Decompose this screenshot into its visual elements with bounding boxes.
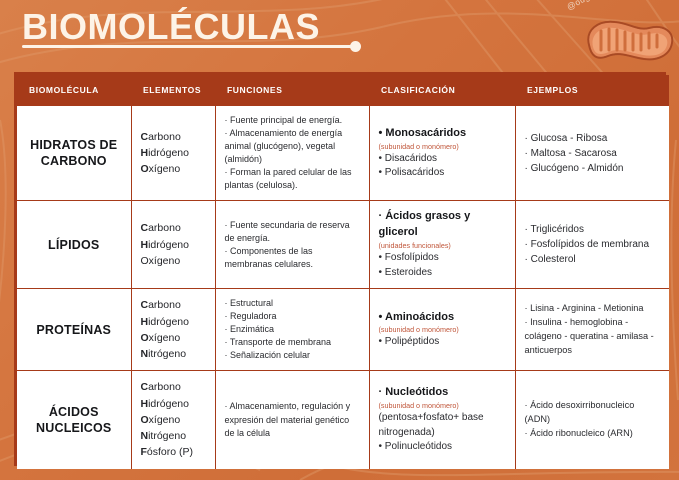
- function-item: · Almacenamiento, regulación y expresión…: [225, 400, 360, 439]
- column-header-clasificacion: CLASIFICACIÓN: [369, 75, 515, 106]
- classification-list: · Nucleótidos (subunidad o monómero) (pe…: [379, 385, 506, 454]
- biomolecule-name: HIDRATOS DE CARBONO: [26, 137, 122, 170]
- functions-list: · Estructural · Reguladora · Enzimática …: [225, 297, 360, 362]
- element-item: Oxígeno: [141, 161, 206, 177]
- classification-item: • Polipéptidos: [379, 335, 506, 350]
- function-item: · Transporte de membrana: [225, 336, 360, 349]
- elements-list: Carbono Hidrógeno Oxígeno: [141, 129, 206, 178]
- examples-list: · Glucosa - Ribosa · Maltosa - Sacarosa …: [525, 131, 661, 176]
- biomolecules-table-container: BIOMOLÉCULA ELEMENTOS FUNCIONES CLASIFIC…: [14, 72, 666, 466]
- function-item: · Componentes de las membranas celulares…: [225, 245, 360, 271]
- element-item: Hidrógeno: [141, 396, 206, 412]
- classification-main: · Nucleótidos: [379, 385, 506, 401]
- cell-elementos: Carbono Hidrógeno Oxígeno: [131, 201, 215, 289]
- example-item: · Glucosa - Ribosa: [525, 131, 661, 146]
- classification-item: • Esteroides: [379, 266, 506, 281]
- element-item: Hidrógeno: [141, 145, 206, 161]
- example-item: · Ácido ribonucleico (ARN): [525, 427, 661, 441]
- element-item: Hidrógeno: [141, 314, 206, 330]
- example-item: · Lisina - Arginina - Metionina: [525, 302, 661, 316]
- table-header: BIOMOLÉCULA ELEMENTOS FUNCIONES CLASIFIC…: [17, 75, 669, 106]
- cell-elementos: Carbono Hidrógeno Oxígeno: [131, 106, 215, 201]
- function-item: · Enzimática: [225, 323, 360, 336]
- example-item: · Maltosa - Sacarosa: [525, 146, 661, 161]
- element-item: Carbono: [141, 220, 206, 236]
- example-item: · Insulina - hemoglobina - colágeno - qu…: [525, 316, 661, 357]
- column-header-elementos: ELEMENTOS: [131, 75, 215, 106]
- biomolecule-name: ÁCIDOS NUCLEICOS: [26, 404, 122, 437]
- element-item: Oxígeno: [141, 330, 206, 346]
- function-item: · Fuente principal de energía.: [225, 114, 360, 127]
- cell-clasificacion: · Nucleótidos (subunidad o monómero) (pe…: [369, 371, 515, 469]
- classification-main: • Aminoácidos: [379, 310, 506, 326]
- cell-ejemplos: · Ácido desoxirribonucleico (ADN) · Ácid…: [515, 371, 669, 469]
- classification-detail: (pentosa+fosfato+ base nitrogenada): [379, 411, 506, 440]
- cell-biomolecula: LÍPIDOS: [17, 201, 131, 289]
- title-block: BIOMOLÉCULAS: [22, 8, 442, 46]
- biomolecules-table: BIOMOLÉCULA ELEMENTOS FUNCIONES CLASIFIC…: [17, 75, 669, 469]
- cell-funciones: · Fuente principal de energía. · Almacen…: [215, 106, 369, 201]
- elements-list: Carbono Hidrógeno Oxígeno: [141, 220, 206, 269]
- elements-list: Carbono Hidrógeno Oxígeno Nitrógeno Fósf…: [141, 379, 206, 460]
- function-item: · Fuente secundaria de reserva de energí…: [225, 219, 360, 245]
- function-item: · Estructural: [225, 297, 360, 310]
- element-item: Nitrógeno: [141, 428, 206, 444]
- classification-item: • Polinucleótidos: [379, 440, 506, 455]
- cell-ejemplos: · Glucosa - Ribosa · Maltosa - Sacarosa …: [515, 106, 669, 201]
- cell-funciones: · Almacenamiento, regulación y expresión…: [215, 371, 369, 469]
- mitochondria-icon: [582, 14, 676, 68]
- cell-funciones: · Estructural · Reguladora · Enzimática …: [215, 289, 369, 371]
- cell-elementos: Carbono Hidrógeno Oxígeno Nitrógeno Fósf…: [131, 371, 215, 469]
- example-item: · Ácido desoxirribonucleico (ADN): [525, 399, 661, 427]
- example-item: · Fosfolípidos de membrana: [525, 237, 661, 252]
- functions-list: · Fuente secundaria de reserva de energí…: [225, 219, 360, 271]
- function-item: · Forman la pared celular de las plantas…: [225, 166, 360, 192]
- cell-ejemplos: · Triglicéridos · Fosfolípidos de membra…: [515, 201, 669, 289]
- classification-main: • Monosacáridos: [379, 126, 506, 142]
- cell-elementos: Carbono Hidrógeno Oxígeno Nitrógeno: [131, 289, 215, 371]
- cell-clasificacion: · Ácidos grasos y glicerol (unidades fun…: [369, 201, 515, 289]
- cell-funciones: · Fuente secundaria de reserva de energí…: [215, 201, 369, 289]
- example-item: · Triglicéridos: [525, 222, 661, 237]
- table-body: HIDRATOS DE CARBONO Carbono Hidrógeno Ox…: [17, 106, 669, 469]
- table-row: LÍPIDOS Carbono Hidrógeno Oxígeno · Fuen…: [17, 201, 669, 289]
- watermark-handle: @ouge.mitocondria: [565, 0, 641, 12]
- table-header-row: BIOMOLÉCULA ELEMENTOS FUNCIONES CLASIFIC…: [17, 75, 669, 106]
- biomolecule-name: PROTEÍNAS: [26, 322, 122, 338]
- cell-biomolecula: ÁCIDOS NUCLEICOS: [17, 371, 131, 469]
- examples-list: · Ácido desoxirribonucleico (ADN) · Ácid…: [525, 399, 661, 440]
- element-item: Hidrógeno: [141, 237, 206, 253]
- examples-list: · Lisina - Arginina - Metionina · Insuli…: [525, 302, 661, 357]
- classification-main: · Ácidos grasos y glicerol: [379, 209, 506, 241]
- cell-ejemplos: · Lisina - Arginina - Metionina · Insuli…: [515, 289, 669, 371]
- classification-note: (unidades funcionales): [379, 241, 506, 250]
- functions-list: · Almacenamiento, regulación y expresión…: [225, 400, 360, 439]
- classification-note: (subunidad o monómero): [379, 325, 506, 334]
- elements-list: Carbono Hidrógeno Oxígeno Nitrógeno: [141, 297, 206, 362]
- element-item: Carbono: [141, 129, 206, 145]
- table-row: PROTEÍNAS Carbono Hidrógeno Oxígeno Nitr…: [17, 289, 669, 371]
- classification-list: · Ácidos grasos y glicerol (unidades fun…: [379, 209, 506, 280]
- column-header-funciones: FUNCIONES: [215, 75, 369, 106]
- function-item: · Señalización celular: [225, 349, 360, 362]
- example-item: · Colesterol: [525, 252, 661, 267]
- examples-list: · Triglicéridos · Fosfolípidos de membra…: [525, 222, 661, 267]
- classification-list: • Monosacáridos (subunidad o monómero) •…: [379, 126, 506, 181]
- cell-clasificacion: • Aminoácidos (subunidad o monómero) • P…: [369, 289, 515, 371]
- classification-list: • Aminoácidos (subunidad o monómero) • P…: [379, 310, 506, 350]
- cell-biomolecula: PROTEÍNAS: [17, 289, 131, 371]
- classification-item: • Disacáridos: [379, 152, 506, 167]
- classification-item: • Fosfolípidos: [379, 251, 506, 266]
- page-title: BIOMOLÉCULAS: [22, 8, 442, 46]
- cell-biomolecula: HIDRATOS DE CARBONO: [17, 106, 131, 201]
- classification-note: (subunidad o monómero): [379, 142, 506, 151]
- column-header-ejemplos: EJEMPLOS: [515, 75, 669, 106]
- element-item: Nitrógeno: [141, 346, 206, 362]
- cell-clasificacion: • Monosacáridos (subunidad o monómero) •…: [369, 106, 515, 201]
- element-item: Oxígeno: [141, 412, 206, 428]
- title-underline-dot: [350, 41, 361, 52]
- table-row: HIDRATOS DE CARBONO Carbono Hidrógeno Ox…: [17, 106, 669, 201]
- table-row: ÁCIDOS NUCLEICOS Carbono Hidrógeno Oxíge…: [17, 371, 669, 469]
- classification-item: • Polisacáridos: [379, 166, 506, 181]
- poster-canvas: BIOMOLÉCULAS @ouge.mitocondria BIOMOLÉCU…: [0, 0, 679, 480]
- element-item: Carbono: [141, 297, 206, 313]
- function-item: · Almacenamiento de energía animal (gluc…: [225, 127, 360, 166]
- element-item: Fósforo (P): [141, 444, 206, 460]
- element-item: Oxígeno: [141, 253, 206, 269]
- classification-note: (subunidad o monómero): [379, 401, 506, 410]
- title-underline: [22, 45, 356, 48]
- function-item: · Reguladora: [225, 310, 360, 323]
- biomolecule-name: LÍPIDOS: [26, 237, 122, 253]
- element-item: Carbono: [141, 379, 206, 395]
- functions-list: · Fuente principal de energía. · Almacen…: [225, 114, 360, 192]
- column-header-biomolecula: BIOMOLÉCULA: [17, 75, 131, 106]
- example-item: · Glucógeno - Almidón: [525, 161, 661, 176]
